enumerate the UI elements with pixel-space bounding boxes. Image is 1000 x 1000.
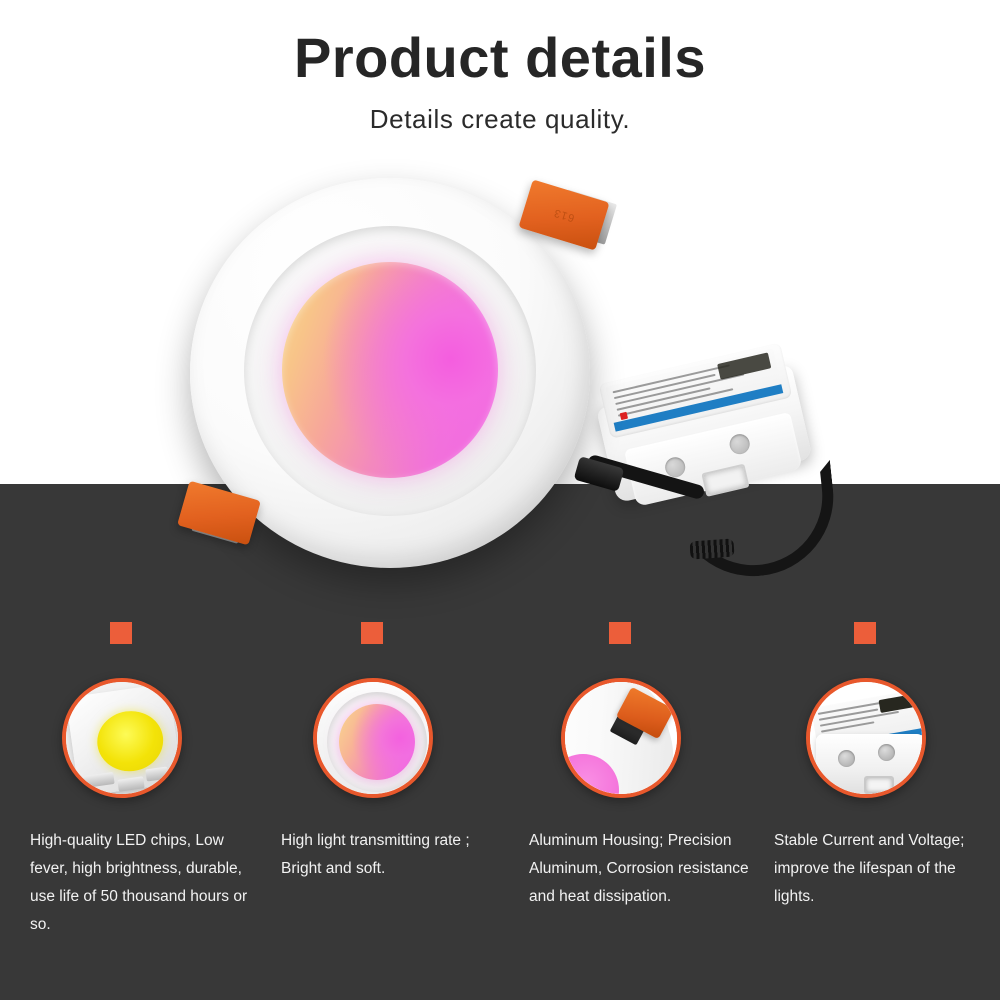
page-title: Product details (0, 0, 1000, 86)
led-chip-illustration (66, 682, 178, 794)
feature-text: Stable Current and Voltage; improve the … (774, 827, 974, 911)
square-marker-icon (110, 622, 132, 644)
square-marker-icon (361, 622, 383, 644)
aluminum-housing-thumbnail[interactable] (561, 678, 681, 798)
lit-lens-thumbnail[interactable] (313, 678, 433, 798)
housing-illustration (565, 682, 677, 794)
square-marker-icon (609, 622, 631, 644)
driver-illustration (810, 682, 922, 794)
dc-cable-strain-relief (689, 538, 734, 559)
feature-text: High-quality LED chips, Low fever, high … (30, 827, 262, 939)
driver-label-barcode (717, 352, 771, 379)
phosphor-dome (93, 707, 167, 776)
driver-body (816, 734, 924, 796)
page-header: Product details Details create quality. (0, 0, 1000, 135)
page-subtitle: Details create quality. (0, 86, 1000, 135)
driver-mount-hole (838, 750, 855, 767)
feature-list: High-quality LED chips, Low fever, high … (0, 615, 1000, 1000)
driver-mount-hole (878, 744, 895, 761)
lens-glow (339, 704, 415, 780)
clip-brand-mark: 613 (552, 206, 576, 224)
feature-text: High light transmitting rate ; Bright an… (281, 827, 513, 883)
led-driver-thumbnail[interactable] (806, 678, 926, 798)
lit-lens-illustration (317, 682, 429, 794)
driver-output-port (864, 776, 894, 794)
dc-cable-loop (671, 460, 841, 584)
feature-text: Aluminum Housing; Precision Aluminum, Co… (529, 827, 761, 911)
driver-label-barcode (879, 693, 921, 713)
driver-mount-hole (728, 432, 752, 456)
downlight-lens-face (282, 262, 498, 478)
square-marker-icon (854, 622, 876, 644)
led-chip-thumbnail[interactable] (62, 678, 182, 798)
product-details-page: Product details Details create quality. (0, 0, 1000, 1000)
